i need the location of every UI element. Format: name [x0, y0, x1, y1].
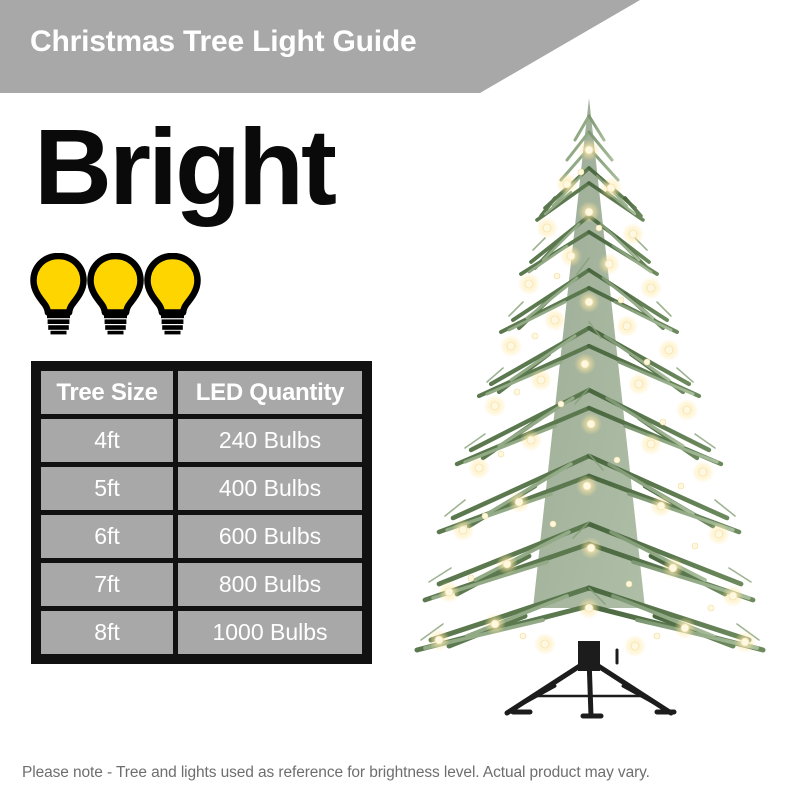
- table-header-row: Tree Size LED Quantity: [41, 371, 362, 414]
- light-bulb-icon: [144, 253, 201, 335]
- christmas-tree-image: [395, 88, 800, 728]
- table-row: 6ft 600 Bulbs: [41, 515, 362, 558]
- table-row: 4ft 240 Bulbs: [41, 419, 362, 462]
- cell-led-quantity: 240 Bulbs: [178, 419, 362, 462]
- tree-foliage: [417, 98, 763, 650]
- cell-led-quantity: 1000 Bulbs: [178, 611, 362, 654]
- cell-led-quantity: 600 Bulbs: [178, 515, 362, 558]
- cell-tree-size: 8ft: [41, 611, 173, 654]
- table-row: 5ft 400 Bulbs: [41, 467, 362, 510]
- page-title: Christmas Tree Light Guide: [30, 25, 417, 59]
- brightness-level-heading: Bright: [34, 113, 334, 221]
- light-guide-infographic: Christmas Tree Light Guide Bright: [0, 0, 800, 800]
- table-row: 7ft 800 Bulbs: [41, 563, 362, 606]
- disclaimer-note: Please note - Tree and lights used as re…: [22, 764, 650, 782]
- table-row: 8ft 1000 Bulbs: [41, 611, 362, 654]
- light-bulb-icon: [30, 253, 87, 335]
- cell-led-quantity: 400 Bulbs: [178, 467, 362, 510]
- cell-tree-size: 5ft: [41, 467, 173, 510]
- brightness-rating-bulbs: [30, 253, 201, 335]
- column-header-tree-size: Tree Size: [41, 371, 173, 414]
- led-quantity-table: Tree Size LED Quantity 4ft 240 Bulbs 5ft…: [31, 361, 372, 664]
- christmas-tree-illustration: [395, 88, 800, 728]
- tree-stand-icon: [507, 641, 674, 716]
- cell-led-quantity: 800 Bulbs: [178, 563, 362, 606]
- cell-tree-size: 4ft: [41, 419, 173, 462]
- cell-tree-size: 6ft: [41, 515, 173, 558]
- column-header-led-quantity: LED Quantity: [178, 371, 362, 414]
- cell-tree-size: 7ft: [41, 563, 173, 606]
- light-bulb-icon: [87, 253, 144, 335]
